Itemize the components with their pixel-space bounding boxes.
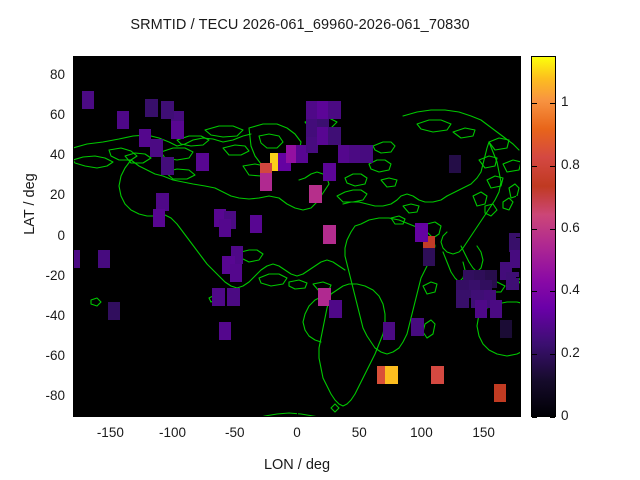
colorbar-tick — [550, 354, 555, 355]
data-cell — [230, 264, 242, 282]
data-cell — [117, 111, 129, 129]
data-cell — [431, 366, 443, 384]
colorbar-tick — [532, 417, 537, 418]
data-cell — [328, 127, 340, 145]
colorbar-tick — [532, 291, 537, 292]
data-cell — [82, 91, 94, 109]
y-tick-right — [516, 76, 521, 77]
x-tick — [359, 412, 360, 417]
y-tick-label: -40 — [25, 308, 65, 323]
colorbar-tick-label: 0.4 — [561, 282, 580, 297]
data-cell — [360, 145, 372, 163]
y-tick-right — [516, 277, 521, 278]
y-tick-right — [516, 237, 521, 238]
x-tick-label: 50 — [329, 425, 389, 440]
data-cell — [456, 290, 468, 308]
data-cell — [73, 250, 80, 268]
y-tick-label: 60 — [25, 107, 65, 122]
x-tick — [297, 412, 298, 417]
data-cell — [196, 153, 208, 171]
colorbar-tick — [550, 229, 555, 230]
colorbar-tick — [550, 103, 555, 104]
x-tick — [484, 412, 485, 417]
colorbar-tick-label: 0.8 — [561, 157, 580, 172]
data-cell — [500, 320, 512, 338]
x-tick-top — [484, 56, 485, 61]
y-tick-right — [516, 196, 521, 197]
x-tick-label: -100 — [143, 425, 203, 440]
x-tick — [235, 412, 236, 417]
x-tick-top — [297, 56, 298, 61]
colorbar-gradient — [532, 57, 555, 416]
data-cell — [219, 322, 231, 340]
y-tick — [73, 156, 78, 157]
data-cell — [385, 366, 397, 384]
data-cell — [449, 155, 461, 173]
x-axis-label: LON / deg — [73, 457, 521, 473]
data-cell — [212, 288, 224, 306]
data-cell — [98, 250, 110, 268]
data-cell — [260, 173, 272, 191]
y-tick — [73, 237, 78, 238]
y-tick — [73, 317, 78, 318]
figure-canvas: SRMTID / TECU 2026-061_69960-2026-061_70… — [0, 0, 640, 480]
colorbar[interactable] — [531, 56, 556, 417]
data-cell — [161, 101, 173, 119]
data-cell — [423, 248, 435, 266]
data-cell — [145, 99, 157, 117]
x-tick-top — [173, 56, 174, 61]
data-cell — [153, 209, 165, 227]
colorbar-tick — [532, 166, 537, 167]
data-cell — [227, 288, 239, 306]
y-tick-right — [516, 397, 521, 398]
colorbar-tick — [532, 354, 537, 355]
y-tick-label: 80 — [25, 67, 65, 82]
x-tick-label: 0 — [267, 425, 327, 440]
data-cell — [415, 223, 427, 241]
y-tick-right — [516, 116, 521, 117]
colorbar-tick — [550, 166, 555, 167]
data-cell — [383, 322, 395, 340]
y-tick-right — [516, 156, 521, 157]
x-tick-label: -150 — [80, 425, 140, 440]
x-tick-top — [421, 56, 422, 61]
data-cell — [510, 250, 521, 268]
colorbar-tick — [550, 417, 555, 418]
y-tick — [73, 357, 78, 358]
data-cell — [323, 163, 335, 181]
y-tick-label: -60 — [25, 348, 65, 363]
x-tick-top — [359, 56, 360, 61]
colorbar-tick — [532, 229, 537, 230]
y-tick-right — [516, 317, 521, 318]
x-tick-label: 100 — [391, 425, 451, 440]
y-tick — [73, 76, 78, 77]
data-cells-layer — [73, 56, 521, 417]
colorbar-tick-label: 0.2 — [561, 345, 580, 360]
colorbar-tick — [532, 103, 537, 104]
data-cell — [309, 185, 321, 203]
data-cell — [329, 300, 341, 318]
data-cell — [411, 318, 423, 336]
colorbar-tick-label: 0.6 — [561, 220, 580, 235]
data-cell — [171, 121, 183, 139]
data-cell — [328, 101, 340, 119]
colorbar-tick — [550, 291, 555, 292]
y-tick — [73, 196, 78, 197]
y-tick-right — [516, 357, 521, 358]
x-tick — [421, 412, 422, 417]
map-plot-area[interactable] — [73, 56, 521, 417]
x-tick — [173, 412, 174, 417]
data-cell — [490, 300, 502, 318]
y-tick-label: -80 — [25, 388, 65, 403]
y-tick — [73, 116, 78, 117]
data-cell — [219, 219, 231, 237]
colorbar-tick-label: 1 — [561, 94, 569, 109]
y-tick — [73, 277, 78, 278]
data-cell — [161, 157, 173, 175]
data-cell — [150, 139, 162, 157]
x-tick-label: 150 — [454, 425, 514, 440]
x-tick — [110, 412, 111, 417]
x-tick-label: -50 — [205, 425, 265, 440]
data-cell — [494, 384, 506, 402]
data-cell — [108, 302, 120, 320]
data-cell — [475, 300, 487, 318]
data-cell — [323, 225, 335, 243]
y-tick — [73, 397, 78, 398]
x-tick-top — [110, 56, 111, 61]
data-cell — [250, 215, 262, 233]
colorbar-tick-label: 0 — [561, 408, 569, 423]
page-title: SRMTID / TECU 2026-061_69960-2026-061_70… — [0, 17, 600, 33]
y-axis-label: LAT / deg — [22, 134, 38, 274]
data-cell — [506, 272, 518, 290]
x-tick-top — [235, 56, 236, 61]
